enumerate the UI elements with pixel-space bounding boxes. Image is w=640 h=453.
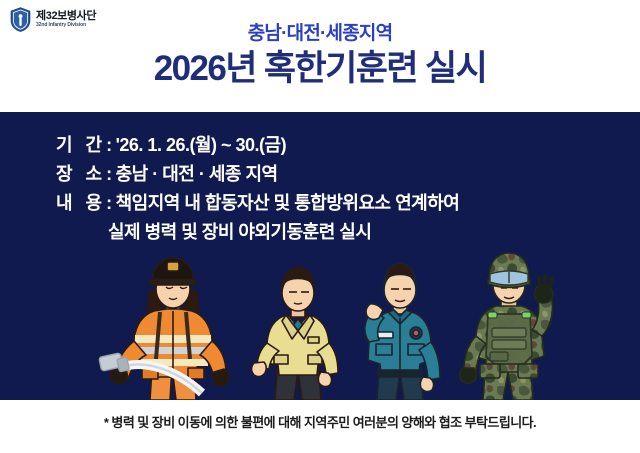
info-row: 내 용:책임지역 내 합동자산 및 통합방위요소 연계하여 <box>56 189 459 218</box>
info-label-content: 내 용 <box>56 189 106 218</box>
info-value-content: 책임지역 내 합동자산 및 통합방위요소 연계하여 <box>116 193 460 213</box>
figure-public-official <box>248 263 348 400</box>
info-value-location: 충남 · 대전 · 세종 지역 <box>116 164 278 184</box>
info-row: 기 간:'26. 1. 26.(월) ~ 30.(금) <box>56 131 459 160</box>
info-panel: 기 간:'26. 1. 26.(월) ~ 30.(금) 장 소:충남 · 대전 … <box>0 112 640 400</box>
figure-firefighter <box>98 255 248 400</box>
figure-soldier <box>452 252 568 400</box>
info-value-period: '26. 1. 26.(월) ~ 30.(금) <box>116 135 286 155</box>
poster-title: 2026년 혹한기훈련 실시 <box>0 48 640 91</box>
info-label-period: 기 간 <box>56 131 106 160</box>
info-content-continuation: 실제 병력 및 장비 야외기동훈련 실시 <box>56 218 459 247</box>
footer-note: * 병력 및 장비 이동에 의한 불편에 대해 지역주민 여러분의 양해와 협조… <box>0 412 640 431</box>
figure-group <box>0 250 640 400</box>
poster-root: 제32보병사단 32nd Infantry Division 충남·대전·세종지… <box>0 0 640 453</box>
info-label-location: 장 소 <box>56 160 106 189</box>
info-list: 기 간:'26. 1. 26.(월) ~ 30.(금) 장 소:충남 · 대전 … <box>56 131 459 248</box>
info-colon: : <box>106 135 112 155</box>
info-colon: : <box>106 164 112 184</box>
info-colon: : <box>106 193 112 213</box>
info-row: 장 소:충남 · 대전 · 세종 지역 <box>56 160 459 189</box>
figure-police-officer <box>348 260 452 400</box>
poster-subtitle: 충남·대전·세종지역 <box>0 22 640 46</box>
poster-header: 충남·대전·세종지역 2026년 혹한기훈련 실시 <box>0 22 640 90</box>
logo-organization-ko: 제32보병사단 <box>36 11 96 22</box>
